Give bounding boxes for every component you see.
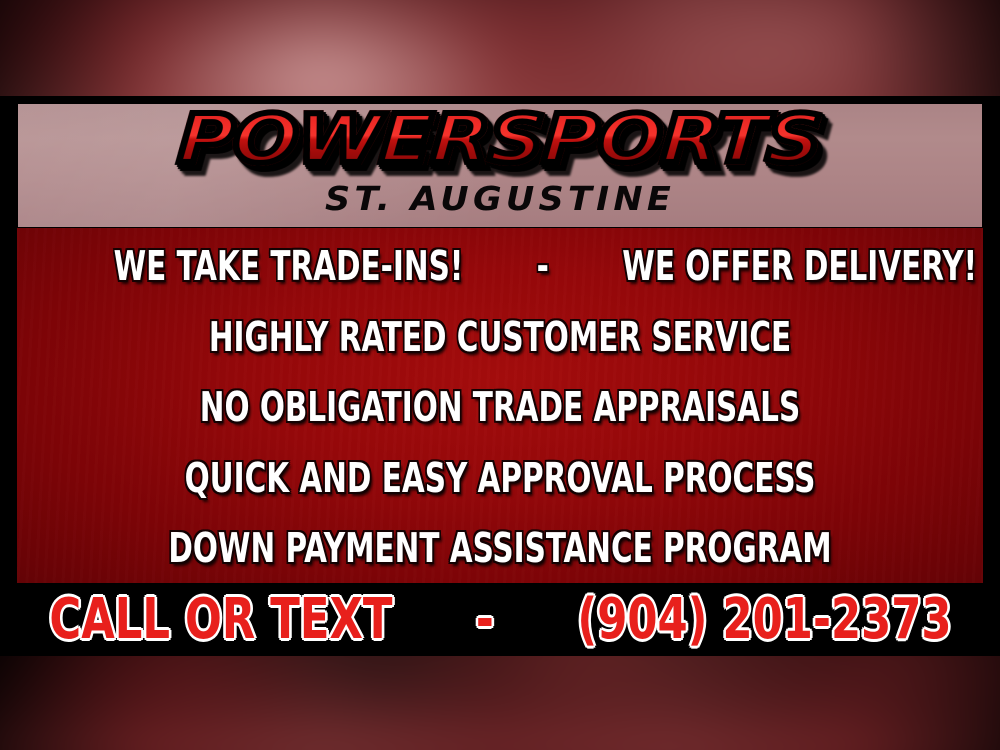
bullet-text-left: WE TAKE TRADE-INS!: [114, 242, 464, 290]
list-item: QUICK AND EASY APPROVAL PROCESS: [114, 458, 887, 499]
bullet-text-right: WE OFFER DELIVERY!: [622, 242, 977, 290]
phone-number[interactable]: (904) 201-2373: [577, 587, 951, 652]
list-item: NO OBLIGATION TRADE APPRAISALS: [114, 387, 887, 428]
powersports-ad-banner: POWERSPORTS ST. AUGUSTINE WE TAKE TRADE-…: [0, 0, 1000, 750]
selling-points-panel: WE TAKE TRADE-INS! - WE OFFER DELIVERY! …: [17, 228, 983, 583]
selling-points-list: WE TAKE TRADE-INS! - WE OFFER DELIVERY! …: [17, 228, 983, 583]
cta-label-call-or-text: CALL OR TEXT: [49, 587, 392, 652]
logo-subtitle-location: ST. AUGUSTINE: [18, 179, 982, 218]
list-item: WE TAKE TRADE-INS! - WE OFFER DELIVERY!: [114, 246, 887, 287]
call-to-action-strip: CALL OR TEXT - (904) 201-2373: [0, 583, 1000, 656]
list-item: DOWN PAYMENT ASSISTANCE PROGRAM: [114, 528, 887, 569]
cta-content: CALL OR TEXT - (904) 201-2373: [49, 592, 951, 648]
logo-wordmark-powersports: POWERSPORTS: [177, 106, 823, 173]
logo-header-panel: POWERSPORTS ST. AUGUSTINE: [18, 104, 982, 227]
bullet-text-left: HIGHLY RATED CUSTOMER SERVICE: [209, 313, 791, 361]
brand-logo: POWERSPORTS ST. AUGUSTINE: [18, 106, 982, 218]
bullet-text-left: NO OBLIGATION TRADE APPRAISALS: [200, 383, 800, 431]
bullet-text-left: DOWN PAYMENT ASSISTANCE PROGRAM: [168, 524, 831, 572]
bullet-separator-dash: -: [529, 246, 557, 287]
list-item: HIGHLY RATED CUSTOMER SERVICE: [114, 317, 887, 358]
bullet-text-left: QUICK AND EASY APPROVAL PROCESS: [185, 454, 816, 502]
cta-separator-dash: -: [457, 592, 513, 648]
